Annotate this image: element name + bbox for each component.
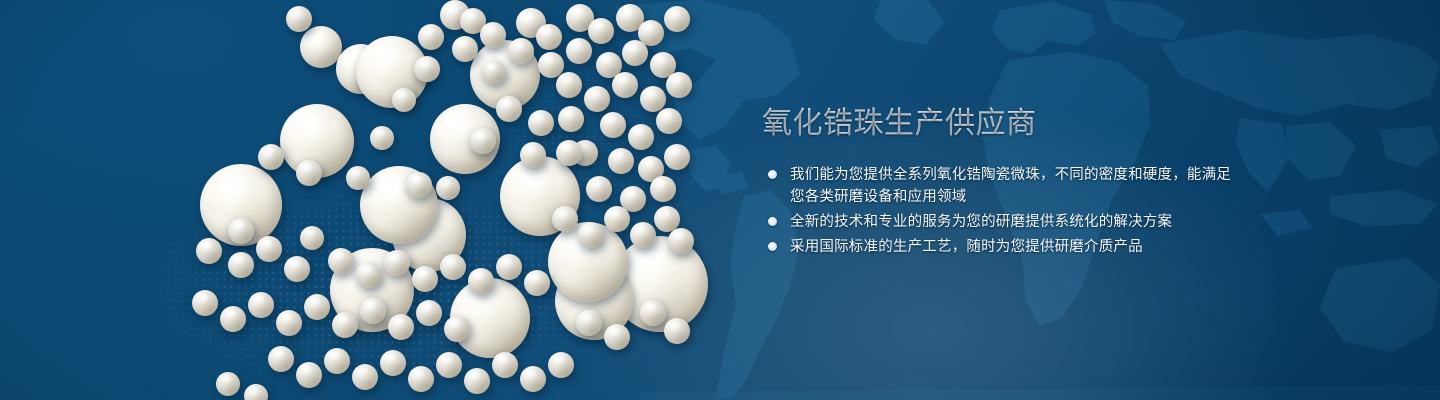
bullet-technology-service: 全新的技术和专业的服务为您的研磨提供系统化的解决方案 [762,211,1232,233]
bullet-text: 我们能为您提供全系列氧化锆陶瓷微珠，不同的密度和硬度，能满足您各类研磨设备和应用… [790,167,1231,205]
bullet-international-standard: 采用国际标准的生产工艺，随时为您提供研磨介质产品 [762,236,1232,258]
banner-copy-block: 氧化锆珠生产供应商 我们能为您提供全系列氧化锆陶瓷微珠，不同的密度和硬度，能满足… [762,104,1232,261]
filled-circle-bullet-icon [768,217,777,226]
bullet-text: 全新的技术和专业的服务为您的研磨提供系统化的解决方案 [790,214,1172,230]
banner-title: 氧化锆珠生产供应商 [762,104,1232,144]
bullet-text: 采用国际标准的生产工艺，随时为您提供研磨介质产品 [790,239,1143,255]
hero-banner: 氧化锆珠生产供应商 我们能为您提供全系列氧化锆陶瓷微珠，不同的密度和硬度，能满足… [0,0,1440,400]
filled-circle-bullet-icon [768,242,777,251]
bullet-full-series: 我们能为您提供全系列氧化锆陶瓷微珠，不同的密度和硬度，能满足您各类研磨设备和应用… [762,164,1232,208]
filled-circle-bullet-icon [768,170,777,179]
banner-bullet-list: 我们能为您提供全系列氧化锆陶瓷微珠，不同的密度和硬度，能满足您各类研磨设备和应用… [762,164,1232,258]
